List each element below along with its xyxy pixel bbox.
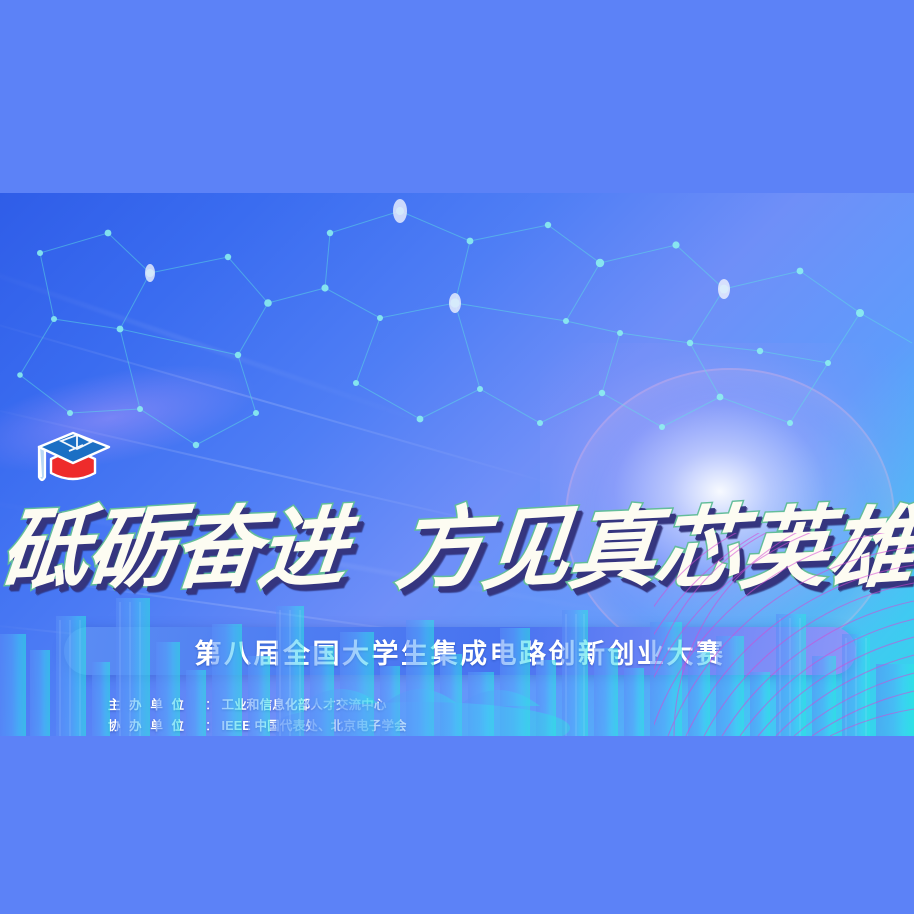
organizer-row: 协 办 单 位 ： IEEE 中国代表处、北京电子学会 bbox=[108, 715, 808, 736]
hero-title-group-1: 砥 砺 奋 进 bbox=[1, 504, 345, 592]
light-sweep bbox=[0, 493, 640, 619]
organizer-value: IEEE 中国代表处、北京电子学会 bbox=[222, 715, 407, 734]
hero-char: 砺 bbox=[82, 501, 177, 594]
hero-char: 进 bbox=[254, 501, 349, 594]
organizer-value: 工业和信息化部人才交流中心 bbox=[222, 694, 387, 713]
hero-title: 砥 砺 奋 进 方 见 真 芯 英 雄 bbox=[0, 483, 914, 613]
hero-char: 芯 bbox=[650, 501, 745, 594]
organizer-colon: ： bbox=[205, 694, 218, 713]
organizer-label: 主 办 单 位 bbox=[108, 694, 205, 713]
organizer-row: 主 办 单 位 ： 工业和信息化部人才交流中心 bbox=[108, 694, 808, 715]
organizer-info-block: 主 办 单 位 ： 工业和信息化部人才交流中心 协 办 单 位 ： IEEE 中… bbox=[108, 694, 808, 736]
glow-ring bbox=[565, 368, 895, 668]
hero-char: 雄 bbox=[822, 501, 914, 594]
hero-title-group-2: 方 见 真 芯 英 雄 bbox=[397, 504, 913, 592]
subtitle-pill: 第八届全国大学生集成电路创新创业大赛 bbox=[64, 627, 856, 675]
hero-char: 方 bbox=[393, 502, 488, 594]
organizer-colon: ： bbox=[205, 715, 218, 734]
light-sweep bbox=[0, 253, 432, 427]
hero-char: 真 bbox=[565, 502, 660, 594]
competition-banner: 砥 砺 奋 进 方 见 真 芯 英 雄 第八届全国大学生集成电路创新创业大赛 主… bbox=[0, 193, 914, 736]
organizer-label: 协 办 单 位 bbox=[108, 715, 205, 734]
network-constellation bbox=[0, 193, 914, 483]
hero-char: 砥 bbox=[0, 502, 91, 594]
graduation-cap-icon bbox=[31, 425, 115, 489]
subtitle-text: 第八届全国大学生集成电路创新创业大赛 bbox=[195, 632, 726, 671]
radial-glow bbox=[540, 343, 914, 673]
hero-char: 奋 bbox=[168, 502, 263, 594]
hero-char: 见 bbox=[478, 501, 573, 594]
hero-char: 英 bbox=[737, 502, 832, 594]
